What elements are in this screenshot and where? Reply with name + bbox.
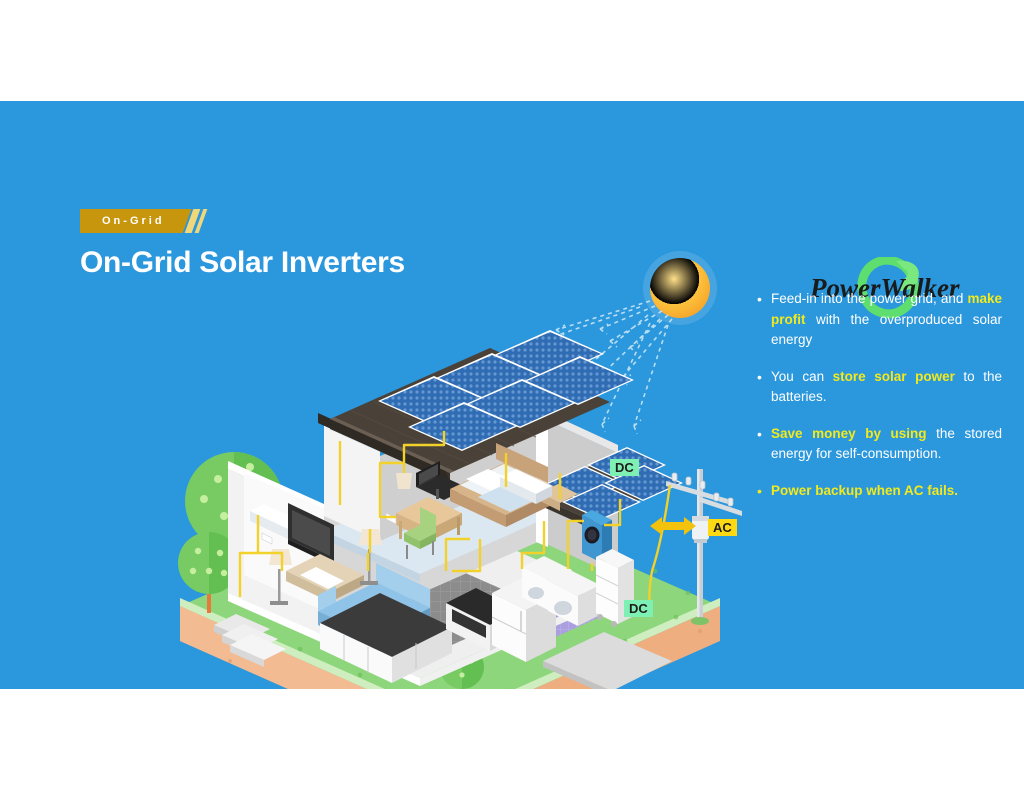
list-item: • Save money by using the stored energy … bbox=[757, 424, 1002, 465]
seg-highlight: Save money by using bbox=[771, 426, 927, 441]
bullet-text-4: Power backup when AC fails. bbox=[771, 481, 1002, 502]
bullet-marker: • bbox=[757, 289, 771, 351]
seg: Feed-in into the power grid, and bbox=[771, 291, 967, 306]
ac-exchange-arrow bbox=[650, 517, 696, 535]
label-dc-battery: DC bbox=[624, 600, 653, 617]
list-item: • You can store solar power to the batte… bbox=[757, 367, 1002, 408]
label-ac-pole: AC bbox=[708, 519, 737, 536]
page-title: On-Grid Solar Inverters bbox=[80, 246, 405, 280]
list-item: • Feed-in into the power grid, and make … bbox=[757, 289, 1002, 351]
label-dc-roof: DC bbox=[610, 459, 639, 476]
bullet-marker: • bbox=[757, 424, 771, 465]
seg: with the overproduced solar energy bbox=[771, 312, 1002, 348]
seg-highlight: Power backup when AC fails. bbox=[771, 483, 958, 498]
on-grid-badge-label: On-Grid bbox=[80, 209, 181, 233]
list-item: • Power backup when AC fails. bbox=[757, 481, 1002, 502]
seg-highlight: store solar power bbox=[833, 369, 955, 384]
bullet-text-1: Feed-in into the power grid, and make pr… bbox=[771, 289, 1002, 351]
sun-graphic bbox=[643, 251, 717, 325]
seg: You can bbox=[771, 369, 833, 384]
bullet-marker: • bbox=[757, 367, 771, 408]
bullet-text-3: Save money by using the stored energy fo… bbox=[771, 424, 1002, 465]
bullet-marker: • bbox=[757, 481, 771, 502]
slide-canvas: DC DC AC On-Grid On-Grid Solar Inverters… bbox=[0, 101, 1024, 689]
on-grid-badge: On-Grid bbox=[80, 209, 203, 233]
bullet-text-2: You can store solar power to the batteri… bbox=[771, 367, 1002, 408]
benefits-list: • Feed-in into the power grid, and make … bbox=[757, 289, 1002, 517]
